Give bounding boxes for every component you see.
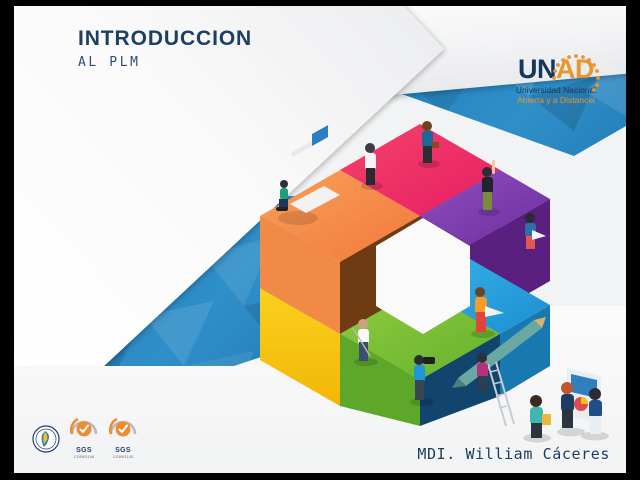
slide-root: INTRODUCCION AL PLM UNAD Universidad Nac… (0, 0, 640, 480)
sgs-check-icon (69, 412, 99, 442)
sgs-mark-1: SGS (69, 447, 99, 454)
sgs-check-icon (108, 412, 138, 442)
figure-attendee (589, 388, 602, 434)
acreditacion-seal-icon (32, 425, 60, 453)
cert-badge-0 (32, 425, 60, 459)
page-subtitle: AL PLM (78, 55, 252, 70)
cert-code-1: CO09/3144 (69, 455, 99, 459)
page-title: INTRODUCCION (78, 28, 252, 49)
cert-badge-2: SGS CO09/3143 (108, 412, 138, 459)
letterbox-bottom (0, 473, 640, 480)
figure-presenter (561, 382, 574, 428)
slide-canvas: INTRODUCCION AL PLM UNAD Universidad Nac… (14, 6, 626, 473)
cert-badge-1: SGS CO09/3144 (69, 412, 99, 459)
isometric-artwork (220, 66, 550, 426)
presenter-name: MDI. William Cáceres (417, 445, 610, 463)
sgs-mark-2: SGS (108, 447, 138, 454)
figure-person-with-folder (530, 395, 551, 438)
figure-group-presentation (509, 354, 619, 446)
unad-logo: UNAD Universidad Nacional Abierta y a Di… (504, 56, 608, 106)
letterbox-top (0, 0, 640, 6)
logo-dots-arc (546, 52, 608, 96)
letterbox-right (626, 0, 640, 480)
certification-badges: SGS CO09/3144 SGS CO09/3143 (32, 412, 138, 459)
title-block: INTRODUCCION AL PLM (78, 28, 252, 70)
cert-code-2: CO09/3143 (108, 455, 138, 459)
letterbox-left (0, 0, 14, 480)
logo-tagline-line2: Abierta y a Distancia (504, 96, 608, 106)
